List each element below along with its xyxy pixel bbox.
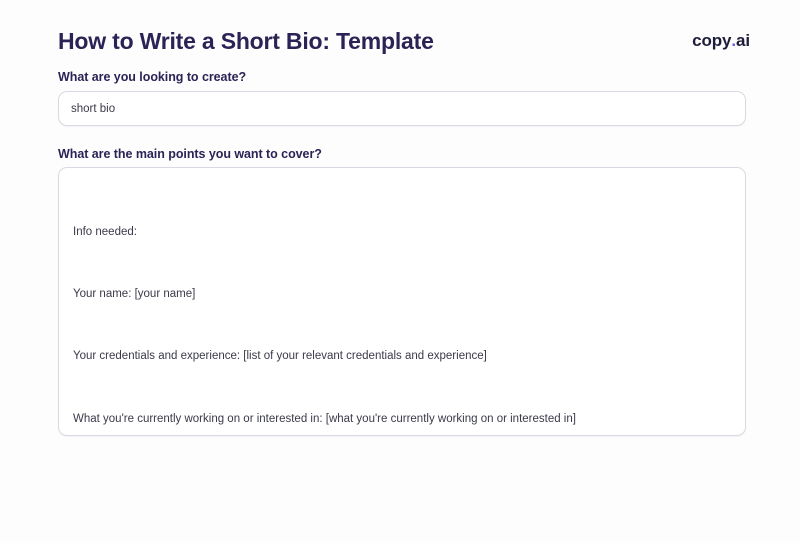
brand-name-after-dot: ai — [736, 26, 750, 56]
points-textarea-content[interactable]: Info needed: Your name: [your name] Your… — [59, 168, 745, 436]
create-field-label: What are you looking to create? — [58, 69, 246, 85]
textarea-line: Your name: [your name] — [73, 284, 731, 305]
page-title: How to Write a Short Bio: Template — [58, 26, 434, 56]
brand-logo: copy . ai — [692, 26, 750, 56]
page-root: How to Write a Short Bio: Template copy … — [0, 0, 800, 543]
textarea-line: Info needed: — [73, 222, 731, 243]
brand-name-before-dot: copy — [692, 26, 731, 56]
textarea-line: What you're currently working on or inte… — [73, 409, 731, 430]
points-textarea[interactable]: Info needed: Your name: [your name] Your… — [58, 167, 746, 436]
create-input[interactable] — [58, 91, 746, 126]
page-header: How to Write a Short Bio: Template copy … — [58, 26, 750, 66]
points-field-label: What are the main points you want to cov… — [58, 146, 322, 162]
textarea-line: Your credentials and experience: [list o… — [73, 346, 731, 367]
